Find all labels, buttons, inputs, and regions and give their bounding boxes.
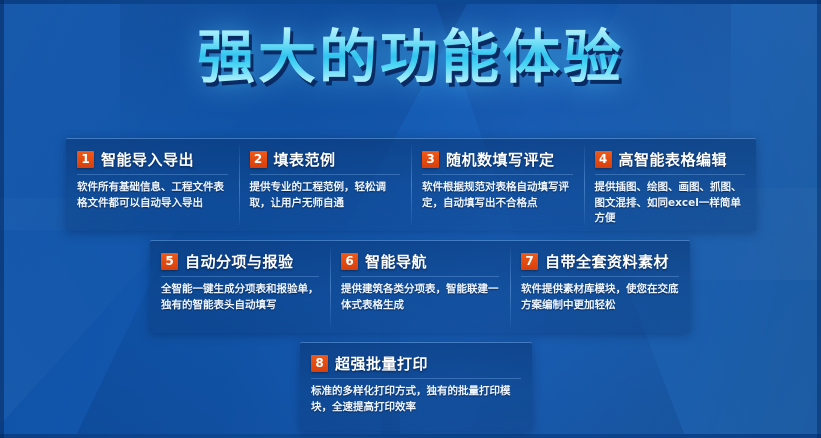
feature-row-1: 1 智能导入导出 软件所有基础信息、工程文件表格文件都可以自动导入导出 2 填表…: [66, 138, 756, 231]
feature-number-badge: 5: [161, 253, 178, 270]
feature-number-badge: 1: [77, 151, 94, 168]
feature-card-5-title: 自动分项与报验: [185, 251, 294, 272]
page-title: 强大的功能体验: [197, 26, 624, 90]
headline-container: 强大的功能体验: [0, 26, 821, 90]
feature-card-8-body: 标准的多样化打印方式，独有的批量打印模块，全速提高打印效率: [311, 384, 521, 415]
feature-card-3-head: 3 随机数填写评定: [422, 149, 573, 175]
feature-card-6-head: 6 智能导航: [341, 251, 499, 277]
feature-card-7-head: 7 自带全套资料素材: [521, 251, 679, 277]
feature-card-5-body: 全智能一键生成分项表和报验单，独有的智能表头自动填写: [161, 282, 319, 313]
feature-card-6-body: 提供建筑各类分项表，智能联建一体式表格生成: [341, 282, 499, 313]
feature-card-4[interactable]: 4 高智能表格编辑 提供插图、绘图、画图、抓图、图文混排、如同excel一样简单…: [584, 139, 757, 231]
feature-card-3-title: 随机数填写评定: [446, 149, 555, 170]
feature-number-badge: 8: [311, 355, 328, 372]
feature-card-2-head: 2 填表范例: [250, 149, 401, 175]
feature-number-badge: 7: [521, 253, 538, 270]
feature-card-3-body: 软件根据规范对表格自动填写评定，自动填写出不合格点: [422, 180, 573, 211]
feature-card-4-body: 提供插图、绘图、画图、抓图、图文混排、如同excel一样简单方便: [595, 180, 746, 227]
feature-number-badge: 4: [595, 151, 612, 168]
border-edge-top: [0, 0, 821, 4]
feature-card-1-title: 智能导入导出: [101, 149, 194, 170]
feature-card-2-body: 提供专业的工程范例，轻松调取，让用户无师自通: [250, 180, 401, 211]
feature-card-4-head: 4 高智能表格编辑: [595, 149, 746, 175]
feature-card-6-title: 智能导航: [365, 251, 427, 272]
feature-card-7[interactable]: 7 自带全套资料素材 软件提供素材库模块，使您在交底方案编制中更加轻松: [510, 241, 690, 333]
feature-card-1[interactable]: 1 智能导入导出 软件所有基础信息、工程文件表格文件都可以自动导入导出: [66, 139, 239, 231]
feature-card-2-title: 填表范例: [274, 149, 336, 170]
feature-card-6[interactable]: 6 智能导航 提供建筑各类分项表，智能联建一体式表格生成: [330, 241, 510, 333]
feature-card-1-body: 软件所有基础信息、工程文件表格文件都可以自动导入导出: [77, 180, 228, 211]
feature-card-7-title: 自带全套资料素材: [545, 251, 669, 272]
feature-row-2: 5 自动分项与报验 全智能一键生成分项表和报验单，独有的智能表头自动填写 6 智…: [150, 240, 690, 333]
feature-number-badge: 6: [341, 253, 358, 270]
feature-card-4-title: 高智能表格编辑: [619, 149, 728, 170]
feature-card-8[interactable]: 8 超强批量打印 标准的多样化打印方式，独有的批量打印模块，全速提高打印效率: [300, 343, 532, 431]
promo-banner: 强大的功能体验 1 智能导入导出 软件所有基础信息、工程文件表格文件都可以自动导…: [0, 0, 821, 438]
feature-card-2[interactable]: 2 填表范例 提供专业的工程范例，轻松调取，让用户无师自通: [239, 139, 412, 231]
feature-card-3[interactable]: 3 随机数填写评定 软件根据规范对表格自动填写评定，自动填写出不合格点: [411, 139, 584, 231]
feature-card-8-head: 8 超强批量打印: [311, 353, 521, 379]
feature-row-3: 8 超强批量打印 标准的多样化打印方式，独有的批量打印模块，全速提高打印效率: [300, 342, 532, 431]
border-edge-bottom: [0, 434, 821, 438]
feature-card-5-head: 5 自动分项与报验: [161, 251, 319, 277]
feature-card-7-body: 软件提供素材库模块，使您在交底方案编制中更加轻松: [521, 282, 679, 313]
feature-card-1-head: 1 智能导入导出: [77, 149, 228, 175]
feature-number-badge: 2: [250, 151, 267, 168]
feature-card-8-title: 超强批量打印: [335, 353, 428, 374]
feature-card-5[interactable]: 5 自动分项与报验 全智能一键生成分项表和报验单，独有的智能表头自动填写: [150, 241, 330, 333]
feature-number-badge: 3: [422, 151, 439, 168]
